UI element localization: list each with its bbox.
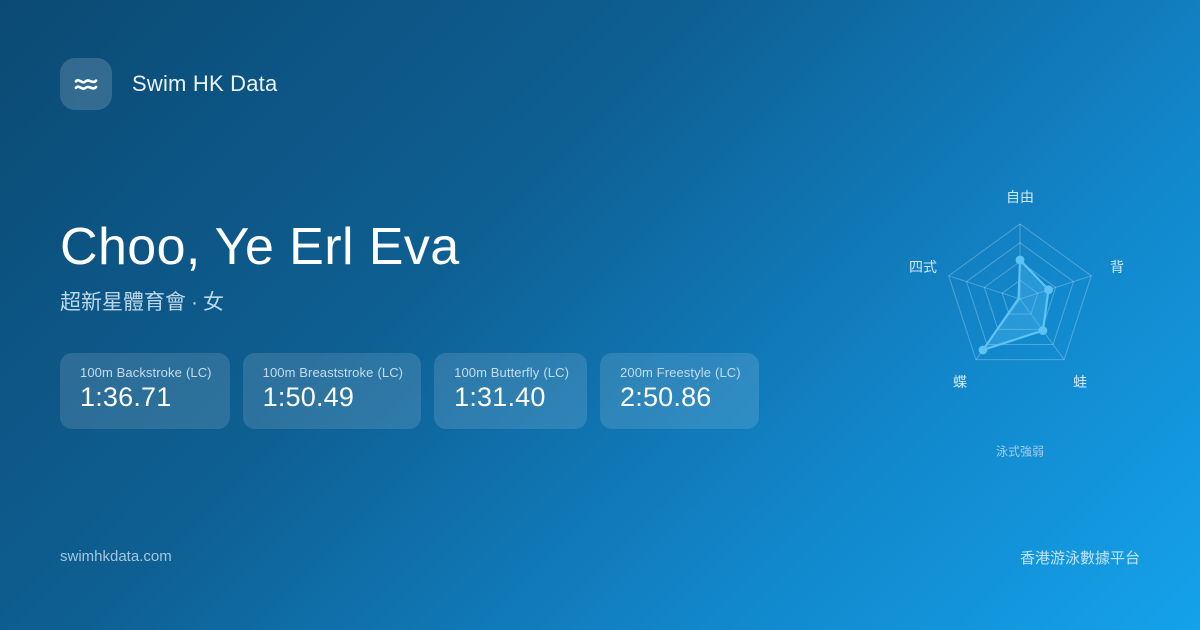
radar-data-point <box>1016 256 1025 265</box>
app-logo <box>60 58 112 110</box>
brand[interactable]: Swim HK Data <box>60 58 277 110</box>
footer-site-url: swimhkdata.com <box>60 548 172 565</box>
brand-name: Swim HK Data <box>132 71 277 97</box>
radar-label-butterfly: 蝶 <box>953 372 967 392</box>
stat-event-name: 100m Backstroke <box>80 365 182 380</box>
stat-course: (LC) <box>377 365 403 380</box>
athlete-header: Choo, Ye Erl Eva 超新星體育會·女 <box>60 218 460 316</box>
stat-time: 1:50.49 <box>263 382 404 412</box>
radar-series-area <box>983 260 1049 350</box>
radar-label-breaststroke: 蛙 <box>1073 372 1087 392</box>
best-times-cards: 100m Backstroke(LC) 1:36.71 100m Breasts… <box>60 353 759 429</box>
stat-time: 1:36.71 <box>80 382 212 412</box>
stat-card[interactable]: 200m Freestyle(LC) 2:50.86 <box>600 353 759 429</box>
radar-label-backstroke: 背 <box>1110 257 1124 277</box>
meta-separator: · <box>186 291 203 314</box>
stat-course: (LC) <box>186 365 212 380</box>
stat-card[interactable]: 100m Butterfly(LC) 1:31.40 <box>434 353 587 429</box>
athlete-club: 超新星體育會 <box>60 291 186 314</box>
stat-time: 1:31.40 <box>454 382 569 412</box>
radar-svg <box>870 165 1170 465</box>
radar-data-point <box>979 346 988 355</box>
stat-time: 2:50.86 <box>620 382 741 412</box>
stat-event-label: 100m Butterfly(LC) <box>454 365 569 380</box>
athlete-name: Choo, Ye Erl Eva <box>60 218 460 276</box>
stat-card[interactable]: 100m Backstroke(LC) 1:36.71 <box>60 353 230 429</box>
radar-caption: 泳式強弱 <box>996 443 1044 460</box>
stat-course: (LC) <box>715 365 741 380</box>
stat-course: (LC) <box>543 365 569 380</box>
stat-card[interactable]: 100m Breaststroke(LC) 1:50.49 <box>243 353 422 429</box>
stat-event-label: 100m Breaststroke(LC) <box>263 365 404 380</box>
radar-data-point <box>1044 285 1053 294</box>
athlete-gender: 女 <box>203 291 224 314</box>
stat-event-label: 200m Freestyle(LC) <box>620 365 741 380</box>
radar-data-point <box>1039 326 1048 335</box>
radar-label-freestyle: 自由 <box>1006 187 1034 207</box>
footer-tagline: 香港游泳數據平台 <box>1020 547 1140 568</box>
stroke-strength-radar-chart: 自由 背 蛙 蝶 四式 <box>870 165 1170 465</box>
athlete-meta: 超新星體育會·女 <box>60 286 460 316</box>
stat-event-label: 100m Backstroke(LC) <box>80 365 212 380</box>
radar-label-medley: 四式 <box>909 257 937 277</box>
stat-event-name: 200m Freestyle <box>620 365 711 380</box>
wave-approx-icon <box>71 69 101 99</box>
stat-event-name: 100m Breaststroke <box>263 365 374 380</box>
stat-event-name: 100m Butterfly <box>454 365 539 380</box>
